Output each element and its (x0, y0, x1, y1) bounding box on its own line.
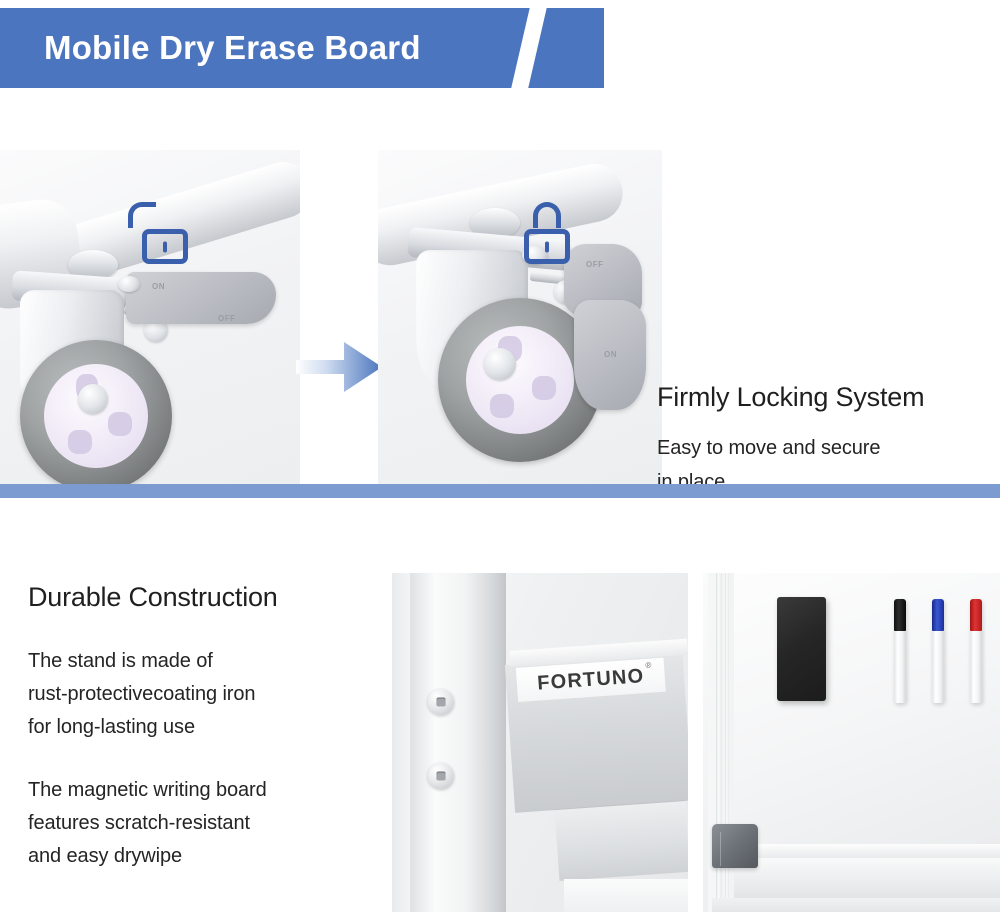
durable-p2-line-3: and easy drywipe (28, 840, 378, 873)
tray-lip (554, 800, 688, 881)
board-bottom-edge (712, 898, 1000, 912)
board-corner-bracket (712, 824, 758, 868)
padlock-body (142, 229, 188, 264)
caster-locked-photo: OFF ON (378, 150, 662, 485)
durable-p2-line-2: features scratch-resistant (28, 807, 378, 840)
durable-p1-line-3: for long-lasting use (28, 711, 378, 744)
stand-detail-photo: FORTUNO ® (392, 573, 688, 912)
hub-spoke-hole (532, 376, 556, 400)
durable-p1-line-2: rust-protectivecoating iron (28, 678, 378, 711)
eraser (777, 597, 826, 701)
padlock-shackle (533, 202, 561, 228)
padlock-body (524, 229, 570, 264)
tray-base (564, 879, 688, 912)
stand-post-shadow (392, 573, 412, 912)
board-tray-face (734, 858, 1000, 898)
registered-mark: ® (645, 660, 653, 669)
marker-red (970, 599, 982, 703)
locking-system-section: ON OFF (0, 150, 1000, 485)
padlock-keyhole (545, 241, 549, 252)
brake-label-off: OFF (218, 314, 236, 323)
padlock-open-icon (142, 202, 192, 264)
marker-black-cap (894, 599, 906, 631)
marker-red-cap (970, 599, 982, 631)
header-banner: Mobile Dry Erase Board (0, 8, 604, 88)
section-divider (0, 484, 1000, 498)
board-tray-rail (734, 844, 1000, 858)
durable-paragraph-1: The stand is made of rust-protectivecoat… (28, 645, 378, 744)
brand-name: FORTUNO ® (537, 665, 646, 695)
page-title: Mobile Dry Erase Board (44, 29, 421, 67)
board-frame (708, 573, 1000, 912)
padlock-shackle (128, 202, 156, 228)
brake-slot-bolt (118, 276, 140, 292)
brake-pedal (126, 272, 276, 324)
brake-label-on: ON (152, 282, 165, 291)
board-writing-surface (734, 573, 1000, 844)
caster-axle (484, 348, 516, 380)
durable-p2-line-1: The magnetic writing board (28, 774, 378, 807)
caster-axle (78, 384, 108, 414)
marker-blue (932, 599, 944, 703)
durable-copy-block: Durable Construction The stand is made o… (28, 582, 378, 903)
locking-body-line-1: Easy to move and secure (657, 431, 1000, 465)
caster-unlocked-photo: ON OFF (0, 150, 300, 485)
marker-blue-cap (932, 599, 944, 631)
brake-label-on: ON (604, 350, 617, 359)
locking-headline: Firmly Locking System (657, 382, 1000, 413)
durable-construction-section: Durable Construction The stand is made o… (0, 560, 1000, 912)
hex-bolt-upper (428, 689, 454, 715)
marker-black (894, 599, 906, 703)
hub-spoke-hole (490, 394, 514, 418)
hub-spoke-hole (108, 412, 132, 436)
header-slash-decoration (507, 8, 550, 88)
product-infographic: Mobile Dry Erase Board ON (0, 0, 1000, 912)
hex-bolt-lower (428, 763, 454, 789)
stand-post (410, 573, 506, 912)
whiteboard-accessories-photo (703, 573, 1000, 912)
durable-headline: Durable Construction (28, 582, 378, 613)
hub-spoke-hole (68, 430, 92, 454)
right-arrow-icon (296, 340, 382, 394)
durable-paragraph-2: The magnetic writing board features scra… (28, 774, 378, 873)
padlock-closed-icon (524, 202, 574, 264)
brand-name-text: FORTUNO (537, 665, 646, 694)
durable-p1-line-1: The stand is made of (28, 645, 378, 678)
brake-label-off: OFF (586, 260, 604, 269)
padlock-keyhole (163, 241, 167, 252)
locking-copy-block: Firmly Locking System Easy to move and s… (657, 382, 1000, 499)
